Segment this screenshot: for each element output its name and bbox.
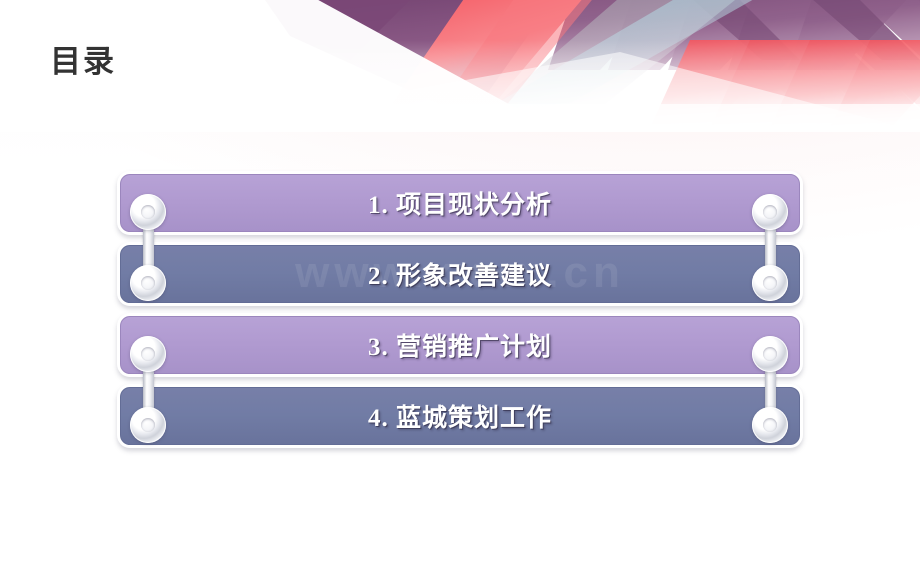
- list-item[interactable]: 2. 形象改善建议: [120, 245, 800, 303]
- list-item[interactable]: 1. 项目现状分析: [120, 174, 800, 232]
- agenda-bar-1[interactable]: 1. 项目现状分析: [120, 174, 800, 232]
- list-item[interactable]: 4. 蓝城策划工作: [120, 387, 800, 445]
- page-title: 目录: [50, 36, 116, 81]
- agenda-label-2: 2. 形象改善建议: [368, 256, 552, 292]
- abstract-chevron-banner-icon: [0, 0, 920, 132]
- agenda-list: 1. 项目现状分析 2. 形象改善建议 3. 营销推广计划 4. 蓝城策划工作: [120, 174, 800, 445]
- list-item[interactable]: 3. 营销推广计划: [120, 316, 800, 374]
- header-decoration: [0, 0, 920, 132]
- agenda-bar-2[interactable]: 2. 形象改善建议: [120, 245, 800, 303]
- agenda-label-3: 3. 营销推广计划: [368, 327, 552, 363]
- slide-canvas: 目录 www.xxxx.cn 1. 项目现状分析 2. 形象改善建议 3. 营销…: [0, 0, 920, 575]
- agenda-label-1: 1. 项目现状分析: [368, 185, 552, 221]
- agenda-bar-4[interactable]: 4. 蓝城策划工作: [120, 387, 800, 445]
- agenda-label-4: 4. 蓝城策划工作: [368, 398, 552, 434]
- agenda-bar-3[interactable]: 3. 营销推广计划: [120, 316, 800, 374]
